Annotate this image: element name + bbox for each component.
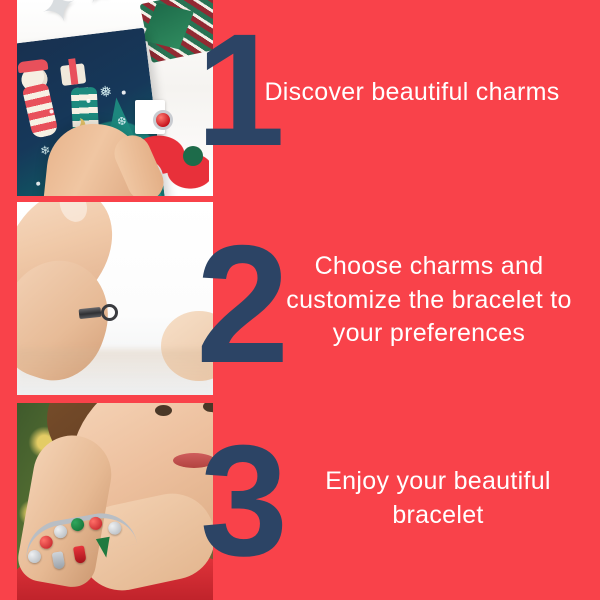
- step-row-1: ❅ ❆ ❄ ❅ ✦ ✦ 1 Discover beauti: [0, 0, 600, 196]
- eye-left: [155, 405, 172, 416]
- gift-box-icon: [60, 63, 86, 86]
- caption-line: bracelet: [288, 499, 588, 533]
- step-number-3: 3: [200, 437, 286, 567]
- step-1-photo: ❅ ❆ ❄ ❅ ✦ ✦: [17, 0, 213, 196]
- step-row-3: 3 Enjoy your beautiful bracelet: [0, 403, 600, 600]
- bracelet-bead-red: [88, 516, 103, 531]
- step-3-caption: Enjoy your beautiful bracelet: [288, 465, 588, 532]
- caption-line: Enjoy your beautiful: [288, 465, 588, 499]
- infographic-canvas: ❅ ❆ ❄ ❅ ✦ ✦ 1 Discover beauti: [0, 0, 600, 600]
- eye-right: [203, 403, 213, 412]
- surface-reflection: [17, 349, 213, 395]
- caption-line: your preferences: [264, 317, 594, 351]
- caption-line: customize the bracelet to: [264, 284, 594, 318]
- step-row-2: 2 Choose charms and customize the bracel…: [0, 202, 600, 395]
- charm-bead: [153, 110, 173, 130]
- step-2-photo: [17, 202, 213, 395]
- snowflake-icon: ❅: [99, 84, 113, 100]
- bracelet-bead-silver: [107, 521, 122, 536]
- bracelet-charm-tree: [96, 537, 113, 559]
- fingernail: [55, 202, 92, 226]
- step-1-caption: Discover beautiful charms: [236, 76, 588, 110]
- bracelet-bead-silver: [53, 524, 68, 539]
- snow-dot: [122, 90, 126, 94]
- bracelet-bead-green: [70, 517, 85, 532]
- snowflake-icon: ❆: [117, 116, 127, 128]
- bracelet-bead-red: [39, 535, 54, 550]
- jump-ring: [101, 304, 118, 321]
- caption-line: Discover beautiful charms: [236, 76, 588, 110]
- step-3-photo: [17, 403, 213, 600]
- step-2-caption: Choose charms and customize the bracelet…: [264, 250, 594, 351]
- caption-line: Choose charms and: [264, 250, 594, 284]
- snow-dot: [36, 181, 40, 185]
